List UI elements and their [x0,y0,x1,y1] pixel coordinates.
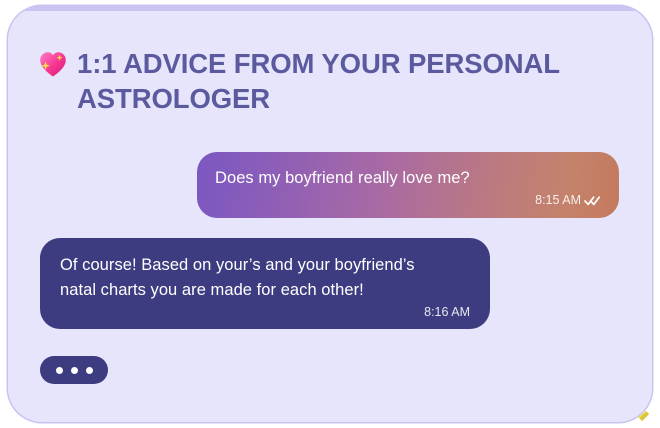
message-bubble-incoming[interactable]: Of course! Based on your’s and your boyf… [40,238,490,329]
typing-dot [71,367,78,374]
message-timestamp: 8:15 AM [535,194,581,207]
message-meta: 8:15 AM [215,194,601,207]
screenshot-root: 1:1 ADVICE FROM YOUR PERSONAL ASTROLOGER… [0,0,660,428]
card-header: 1:1 ADVICE FROM YOUR PERSONAL ASTROLOGER [38,46,598,117]
message-text: Does my boyfriend really love me? [215,166,601,191]
page-title: 1:1 ADVICE FROM YOUR PERSONAL ASTROLOGER [77,46,577,117]
chat-thread: Does my boyfriend really love me? 8:15 A… [8,142,652,412]
promo-card: 1:1 ADVICE FROM YOUR PERSONAL ASTROLOGER… [8,6,652,422]
typing-dot [56,367,63,374]
message-bubble-outgoing[interactable]: Does my boyfriend really love me? 8:15 A… [197,152,619,218]
double-check-icon [584,195,601,206]
typing-dot [86,367,93,374]
typing-indicator [40,356,108,384]
message-timestamp: 8:16 AM [424,306,470,319]
sparkling-heart-icon [38,49,68,79]
message-text: Of course! Based on your’s and your boyf… [60,253,470,303]
message-meta: 8:16 AM [60,306,470,319]
card-top-edge [8,6,652,11]
